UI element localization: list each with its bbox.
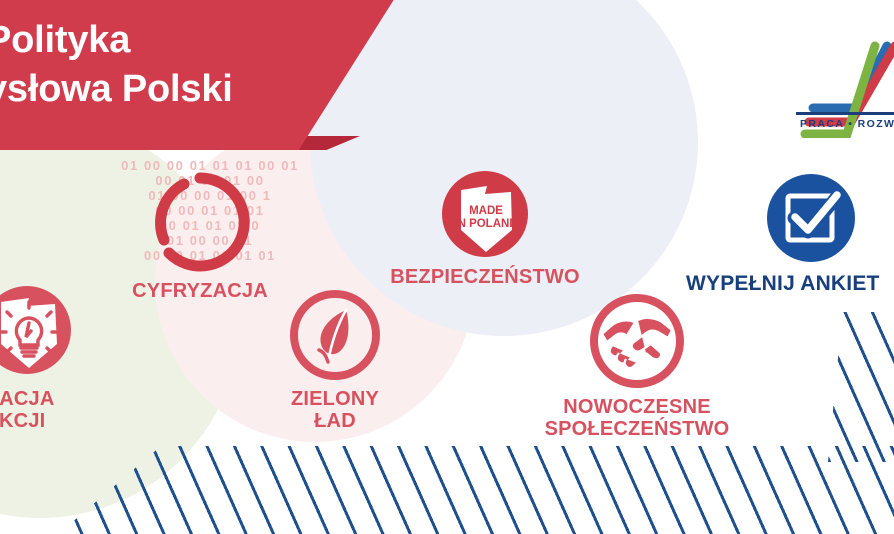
made-in-poland-line2: IN POLAND bbox=[454, 218, 517, 230]
page-title-line2: ysłowa Polski bbox=[0, 65, 233, 114]
tile-label-zielony-lad: ZIELONY ŁAD bbox=[272, 388, 398, 433]
ministry-logo-caption: PRACA • ROZW bbox=[800, 118, 894, 130]
tile-cyfryzacja[interactable]: 01 00 00 01 01 01 00 01 00 01 01 01 00 0… bbox=[110, 170, 290, 302]
tile-label-lokalizacja-produkcji: ALIZACJA ODUKCJI bbox=[0, 388, 100, 433]
tile-zielony-lad[interactable]: ZIELONY ŁAD bbox=[272, 288, 398, 433]
tile-bezpieczenstwo[interactable]: MADE IN POLAND BEZPIECZEŃSTWO bbox=[372, 168, 598, 288]
tile-label-wypelnij-ankiete: WYPEŁNIJ ANKIET bbox=[686, 272, 894, 296]
made-in-poland-icon: MADE IN POLAND bbox=[439, 168, 531, 260]
poster-canvas: Polityka ysłowa Polski PRACA • ROZW bbox=[0, 0, 894, 534]
diagonal-stripes-right bbox=[828, 312, 894, 462]
checkbox-check-icon[interactable] bbox=[763, 170, 859, 266]
tile-wypelnij-ankiete[interactable]: WYPEŁNIJ ANKIET bbox=[686, 170, 894, 296]
tile-label-cyfryzacja: CYFRYZACJA bbox=[110, 280, 290, 302]
logo-underline bbox=[796, 112, 894, 115]
binary-ring-icon: 01 00 00 01 01 01 00 01 00 01 01 01 00 0… bbox=[148, 170, 252, 274]
page-title: Polityka ysłowa Polski bbox=[0, 16, 233, 113]
lightbulb-in-poland-shield-icon bbox=[0, 282, 77, 382]
page-title-line1: Polityka bbox=[0, 16, 233, 65]
leaf-ring-icon bbox=[288, 288, 382, 382]
tile-lokalizacja-produkcji[interactable]: ALIZACJA ODUKCJI bbox=[0, 282, 100, 433]
made-in-poland-line1: MADE bbox=[469, 205, 503, 217]
tile-label-bezpieczenstwo: BEZPIECZEŃSTWO bbox=[372, 266, 598, 288]
handshake-ring-icon bbox=[588, 292, 686, 390]
tile-nowoczesne-spoleczenstwo[interactable]: NOWOCZESNE SPOŁECZEŃSTWO bbox=[520, 292, 754, 441]
tile-label-nowoczesne-spoleczenstwo: NOWOCZESNE SPOŁECZEŃSTWO bbox=[520, 396, 754, 441]
